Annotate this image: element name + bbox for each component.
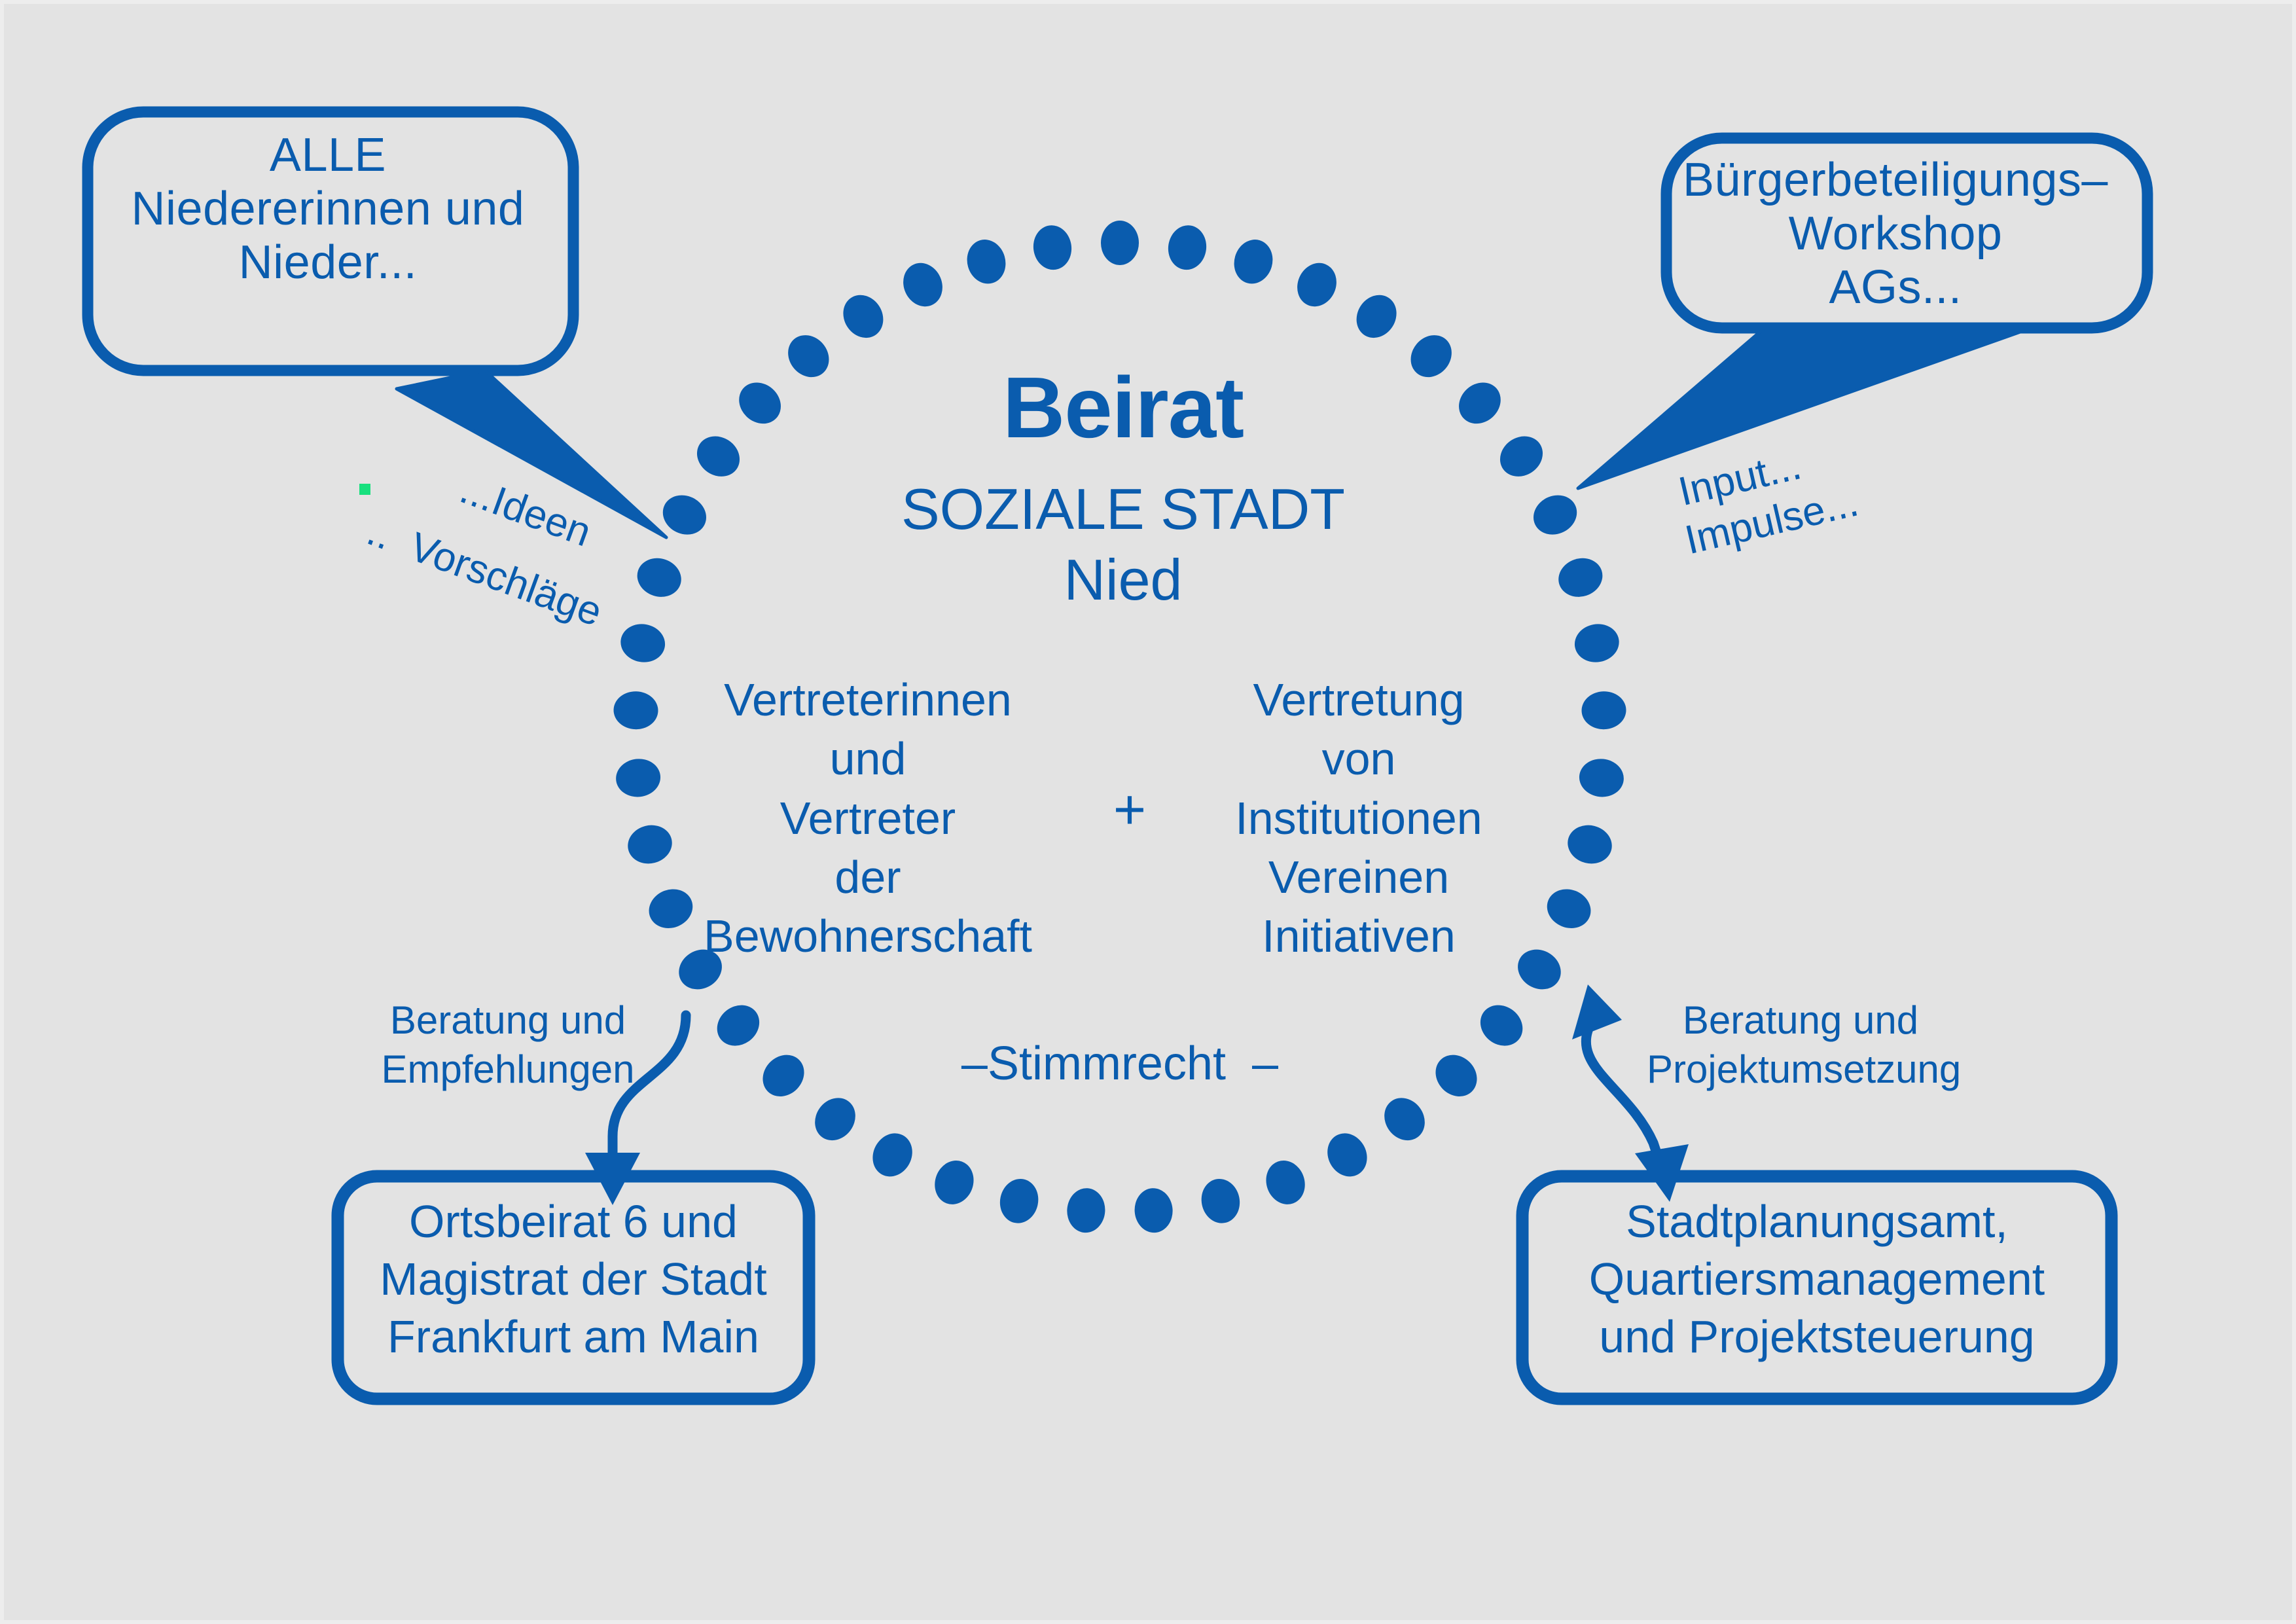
plus-icon: + — [1071, 778, 1189, 842]
speech-bubble-right-tail — [1578, 328, 2028, 488]
circle-dot — [613, 691, 659, 730]
circle-dot — [1066, 1187, 1107, 1234]
circle-dot — [1320, 1127, 1374, 1183]
circle-dot — [730, 374, 789, 432]
page-title: Beirat — [829, 359, 1418, 457]
circle-dot — [1541, 883, 1597, 935]
green-square-marker — [359, 484, 370, 495]
circle-dot — [709, 997, 767, 1055]
circle-dot — [1133, 1187, 1174, 1234]
circle-dot — [1197, 1176, 1244, 1227]
box-stadtplanungsamt-label: Stadtplanungsamt, Quartiersmanagement un… — [1522, 1193, 2111, 1366]
circle-dot — [1031, 223, 1075, 272]
members-column-institutions: Vertretung von Institutionen Vereinen In… — [1182, 670, 1535, 965]
circle-dot — [1376, 1090, 1433, 1148]
circle-dot — [1554, 552, 1608, 602]
circle-dot — [897, 257, 950, 313]
circle-dot — [1564, 821, 1616, 869]
circle-dot — [1450, 374, 1509, 432]
circle-dot — [614, 757, 662, 799]
circle-dot — [632, 552, 687, 602]
voting-rights-note: –Stimmrecht – — [924, 1037, 1316, 1091]
circle-dot — [1229, 235, 1278, 288]
circle-dot — [1101, 221, 1139, 265]
circle-dot — [689, 428, 747, 484]
circle-dot — [1581, 691, 1627, 730]
circle-dot — [1291, 257, 1344, 313]
circle-dot — [962, 235, 1011, 288]
circle-dot — [1166, 223, 1210, 272]
circle-dot — [1492, 428, 1551, 484]
arrow-right-head-up — [1572, 984, 1622, 1039]
members-column-residents: Vertreterinnen und Vertreter der Bewohne… — [665, 670, 1071, 965]
circle-dot — [755, 1047, 813, 1105]
annotation-beratung-empfehlungen: Beratung und Empfehlungen — [377, 996, 639, 1094]
circle-dot — [1427, 1047, 1486, 1105]
circle-dot — [656, 488, 713, 542]
speech-bubble-right-label: Bürgerbeteiligungs– Workshop AGs... — [1666, 153, 2125, 314]
circle-dot — [996, 1176, 1043, 1227]
circle-dot — [1472, 997, 1530, 1055]
subtitle-soziale-stadt: SOZIALE STADT — [829, 477, 1418, 542]
speech-bubble-left-label: ALLE Niedererinnen und Nieder... — [102, 128, 554, 289]
circle-dot — [865, 1127, 920, 1183]
circle-dot — [807, 1090, 864, 1148]
circle-dot — [1577, 757, 1626, 799]
box-ortsbeirat-label: Ortsbeirat 6 und Magistrat der Stadt Fra… — [338, 1193, 809, 1366]
circle-dot — [1571, 621, 1622, 666]
circle-dot — [1260, 1155, 1311, 1210]
circle-dot — [835, 287, 891, 345]
circle-dot — [1348, 287, 1404, 345]
circle-dot — [618, 621, 668, 666]
subtitle-nied: Nied — [829, 547, 1418, 613]
circle-dot — [1527, 488, 1584, 542]
diagram-canvas: ALLE Niedererinnen und Nieder... Bürgerb… — [0, 0, 2296, 1624]
circle-dot — [929, 1155, 980, 1210]
annotation-beratung-projektumsetzung: Beratung und Projektumsetzung — [1647, 996, 1954, 1094]
